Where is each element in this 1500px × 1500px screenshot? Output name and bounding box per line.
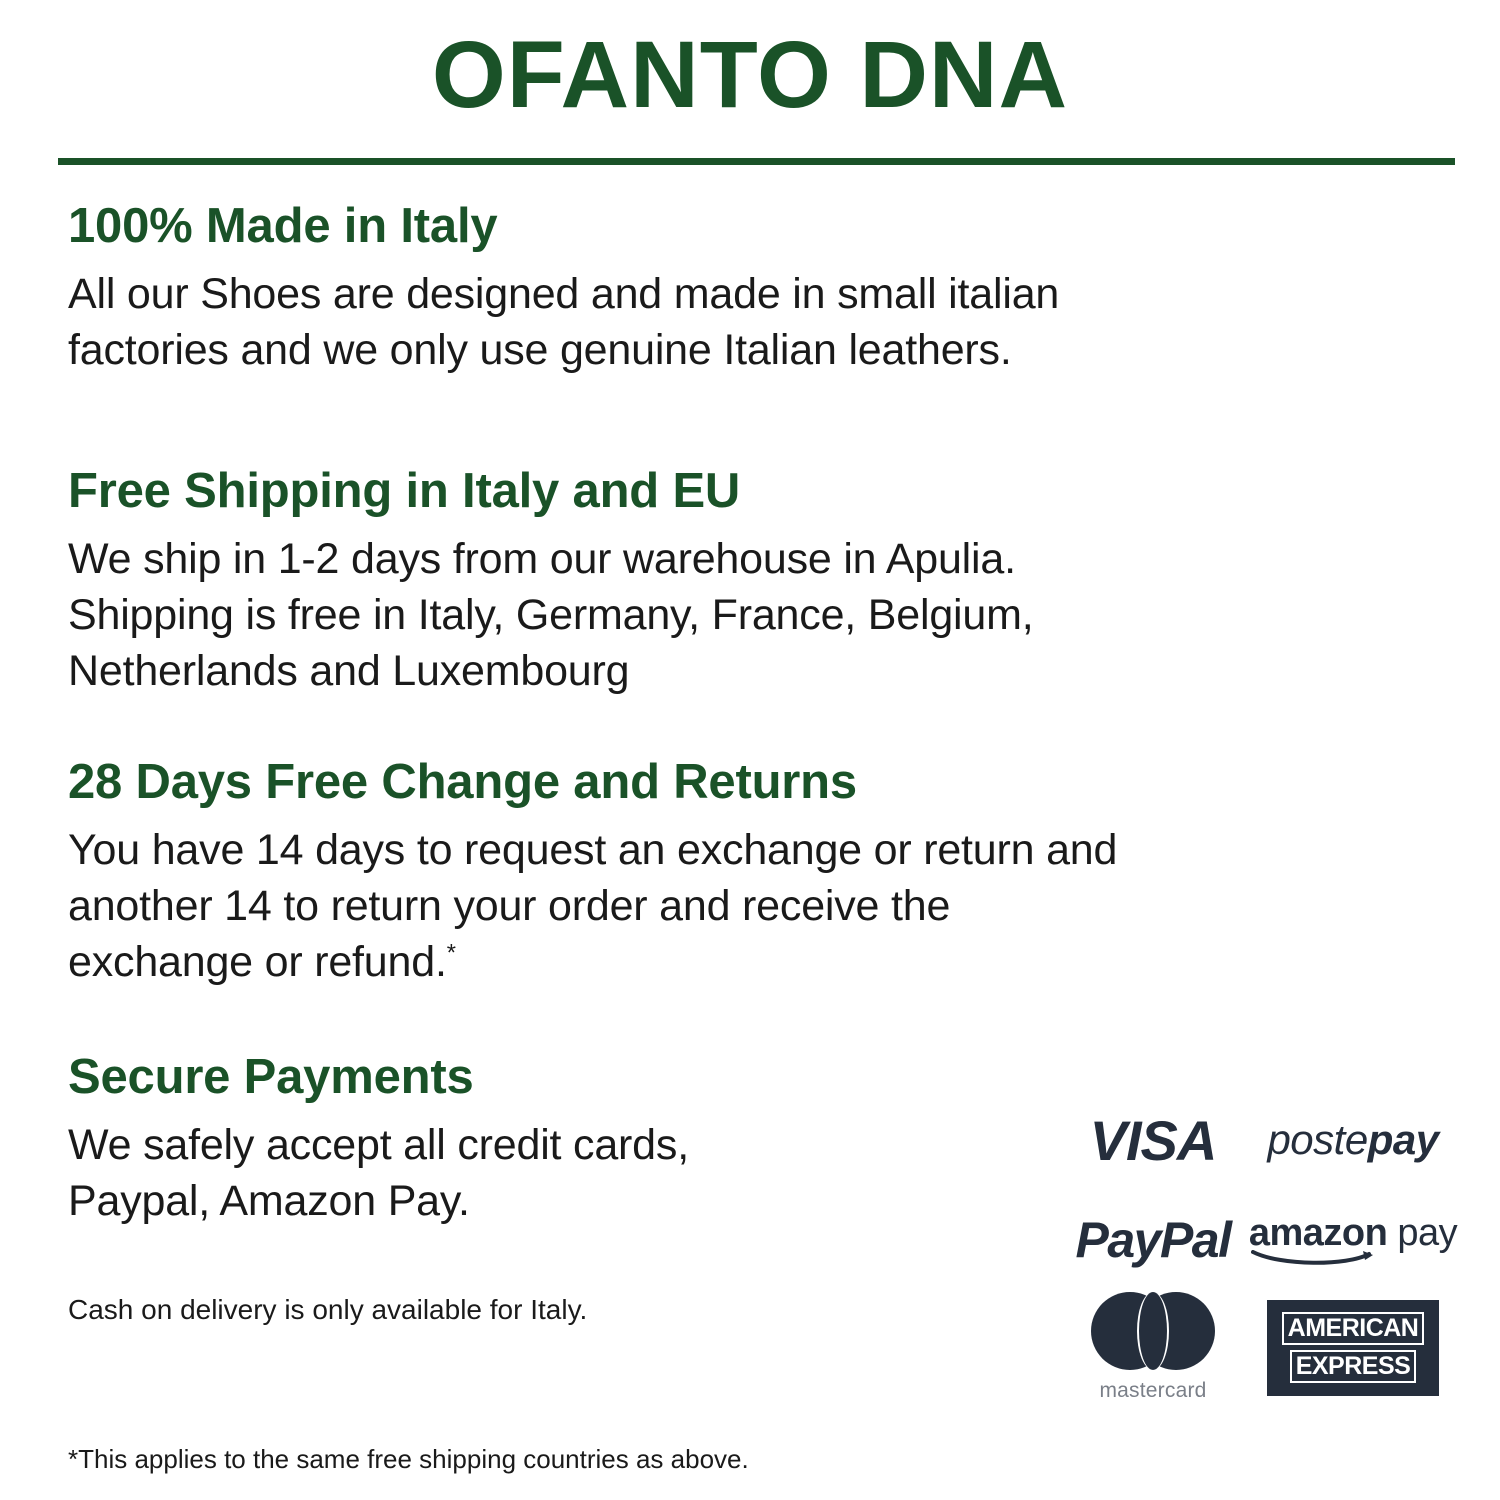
body-line: All our Shoes are designed and made in s… [68, 267, 1458, 323]
postepay-wordmark: postepay [1267, 1116, 1438, 1164]
page-title: OFANTO DNA [0, 0, 1500, 126]
footnote-text: *This applies to the same free shipping … [68, 1443, 749, 1477]
visa-wordmark: VISA [1090, 1108, 1217, 1173]
section-heading: Secure Payments [68, 1047, 1028, 1108]
amazon-pay-wordmark: amazon pay [1249, 1214, 1457, 1266]
amazon-text: amazon [1249, 1212, 1387, 1254]
american-express-logo: AMERICAN EXPRESS [1248, 1285, 1458, 1410]
section-heading: 100% Made in Italy [68, 196, 1458, 257]
body-line: another 14 to return your order and rece… [68, 879, 1458, 935]
mastercard-mark: mastercard [1091, 1292, 1215, 1403]
section-body: All our Shoes are designed and made in s… [68, 267, 1458, 379]
secure-payments-text: Secure Payments We safely accept all cre… [68, 1047, 1028, 1328]
section-heading: 28 Days Free Change and Returns [68, 752, 1458, 813]
body-line-text: exchange or refund. [68, 938, 447, 986]
section-free-shipping: Free Shipping in Italy and EU We ship in… [68, 461, 1458, 700]
payment-logos-grid: VISA postepay PayPal amazon pay masterca… [1058, 1085, 1458, 1410]
section-change-and-returns: 28 Days Free Change and Returns You have… [68, 752, 1458, 991]
postepay-logo: postepay [1248, 1085, 1458, 1195]
body-line: factories and we only use genuine Italia… [68, 323, 1458, 379]
footnote-marker: * [447, 941, 456, 967]
amex-line-american: AMERICAN [1282, 1312, 1425, 1345]
body-line: We safely accept all credit cards, [68, 1118, 1028, 1174]
amazon-swoosh-icon [1251, 1250, 1377, 1266]
amazon-pay-logo: amazon pay [1248, 1195, 1458, 1285]
section-made-in-italy: 100% Made in Italy All our Shoes are des… [68, 196, 1458, 379]
body-line: We ship in 1-2 days from our warehouse i… [68, 532, 1458, 588]
body-line: Netherlands and Luxembourg [68, 644, 1458, 700]
paypal-logo: PayPal [1058, 1195, 1248, 1285]
section-body: You have 14 days to request an exchange … [68, 823, 1458, 991]
body-line: Paypal, Amazon Pay. [68, 1174, 1028, 1230]
spacer [68, 991, 1458, 1047]
mastercard-circles-icon [1091, 1292, 1215, 1370]
paypal-wordmark: PayPal [1075, 1211, 1230, 1269]
postepay-poste: poste [1267, 1116, 1367, 1163]
mastercard-circle-overlap [1137, 1292, 1169, 1370]
section-heading: Free Shipping in Italy and EU [68, 461, 1458, 522]
section-body: We ship in 1-2 days from our warehouse i… [68, 532, 1458, 700]
postepay-pay: pay [1368, 1116, 1439, 1163]
spacer [68, 700, 1458, 752]
cash-on-delivery-note: Cash on delivery is only available for I… [68, 1292, 1028, 1328]
amex-line-express: EXPRESS [1290, 1350, 1417, 1383]
pay-text: pay [1397, 1212, 1457, 1254]
body-line: exchange or refund.* [68, 935, 1458, 991]
spacer [68, 379, 1458, 461]
visa-logo: VISA [1058, 1085, 1248, 1195]
mastercard-logo: mastercard [1058, 1285, 1248, 1410]
section-body: We safely accept all credit cards, Paypa… [68, 1118, 1028, 1230]
amex-badge: AMERICAN EXPRESS [1267, 1300, 1439, 1396]
mastercard-wordmark: mastercard [1099, 1379, 1206, 1403]
ofanto-dna-info-panel: OFANTO DNA 100% Made in Italy All our Sh… [0, 0, 1500, 1500]
body-line: You have 14 days to request an exchange … [68, 823, 1458, 879]
header-divider [58, 158, 1455, 165]
body-line: Shipping is free in Italy, Germany, Fran… [68, 588, 1458, 644]
